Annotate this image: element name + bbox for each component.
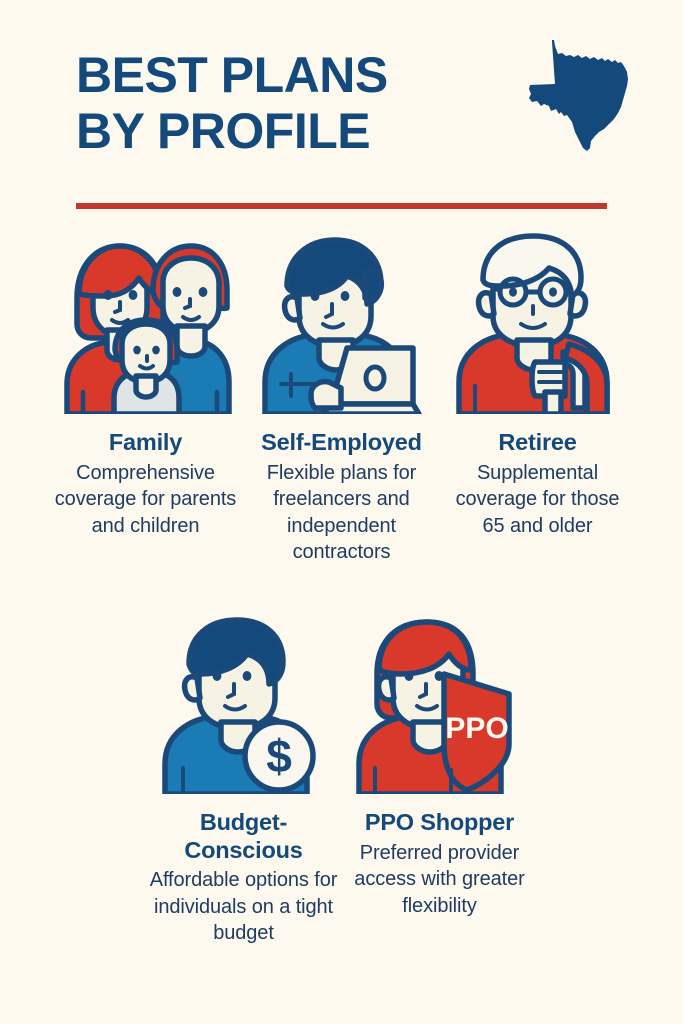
profile-title: Self-Employed (261, 429, 422, 457)
profile-description: Preferred provider access with greater f… (346, 840, 534, 919)
header-divider (76, 203, 607, 209)
svg-text:$: $ (266, 730, 292, 782)
profile-title: Family (109, 429, 182, 457)
profile-card-retiree[interactable]: Retiree Supplemental coverage for those … (440, 232, 636, 565)
infographic-poster: BEST PLANS BY PROFILE (0, 0, 683, 1024)
profile-card-family[interactable]: Family Comprehensive coverage for parent… (48, 232, 244, 565)
profile-row-top: Family Comprehensive coverage for parent… (0, 232, 683, 565)
profile-title: PPO Shopper (365, 809, 514, 837)
family-icon (57, 232, 235, 414)
profile-title: Retiree (498, 429, 576, 457)
profile-row-bottom: $ Budget-Conscious Affordable options fo… (0, 612, 683, 947)
profile-card-ppo-shopper[interactable]: PPO PPO Shopper Preferred provider acces… (342, 612, 538, 947)
retiree-cane-icon (449, 232, 627, 414)
profile-description: Affordable options for individuals on a … (150, 867, 338, 946)
profile-description: Supplemental coverage for those 65 and o… (444, 460, 632, 539)
page-title: BEST PLANS BY PROFILE (76, 48, 506, 159)
poster-header: BEST PLANS BY PROFILE (0, 0, 683, 222)
texas-state-silhouette-icon (528, 36, 636, 156)
profile-card-self-employed[interactable]: Self-Employed Flexible plans for freelan… (244, 232, 440, 565)
profile-description: Flexible plans for freelancers and indep… (248, 460, 436, 566)
budget-dollar-coin-icon: $ (155, 612, 333, 794)
profile-description: Comprehensive coverage for parents and c… (52, 460, 240, 539)
shield-label: PPO (445, 712, 508, 745)
ppo-shield-icon: PPO (351, 612, 529, 794)
self-employed-laptop-icon (253, 232, 431, 414)
profile-title: Budget-Conscious (150, 809, 338, 864)
profile-card-budget-conscious[interactable]: $ Budget-Conscious Affordable options fo… (146, 612, 342, 947)
